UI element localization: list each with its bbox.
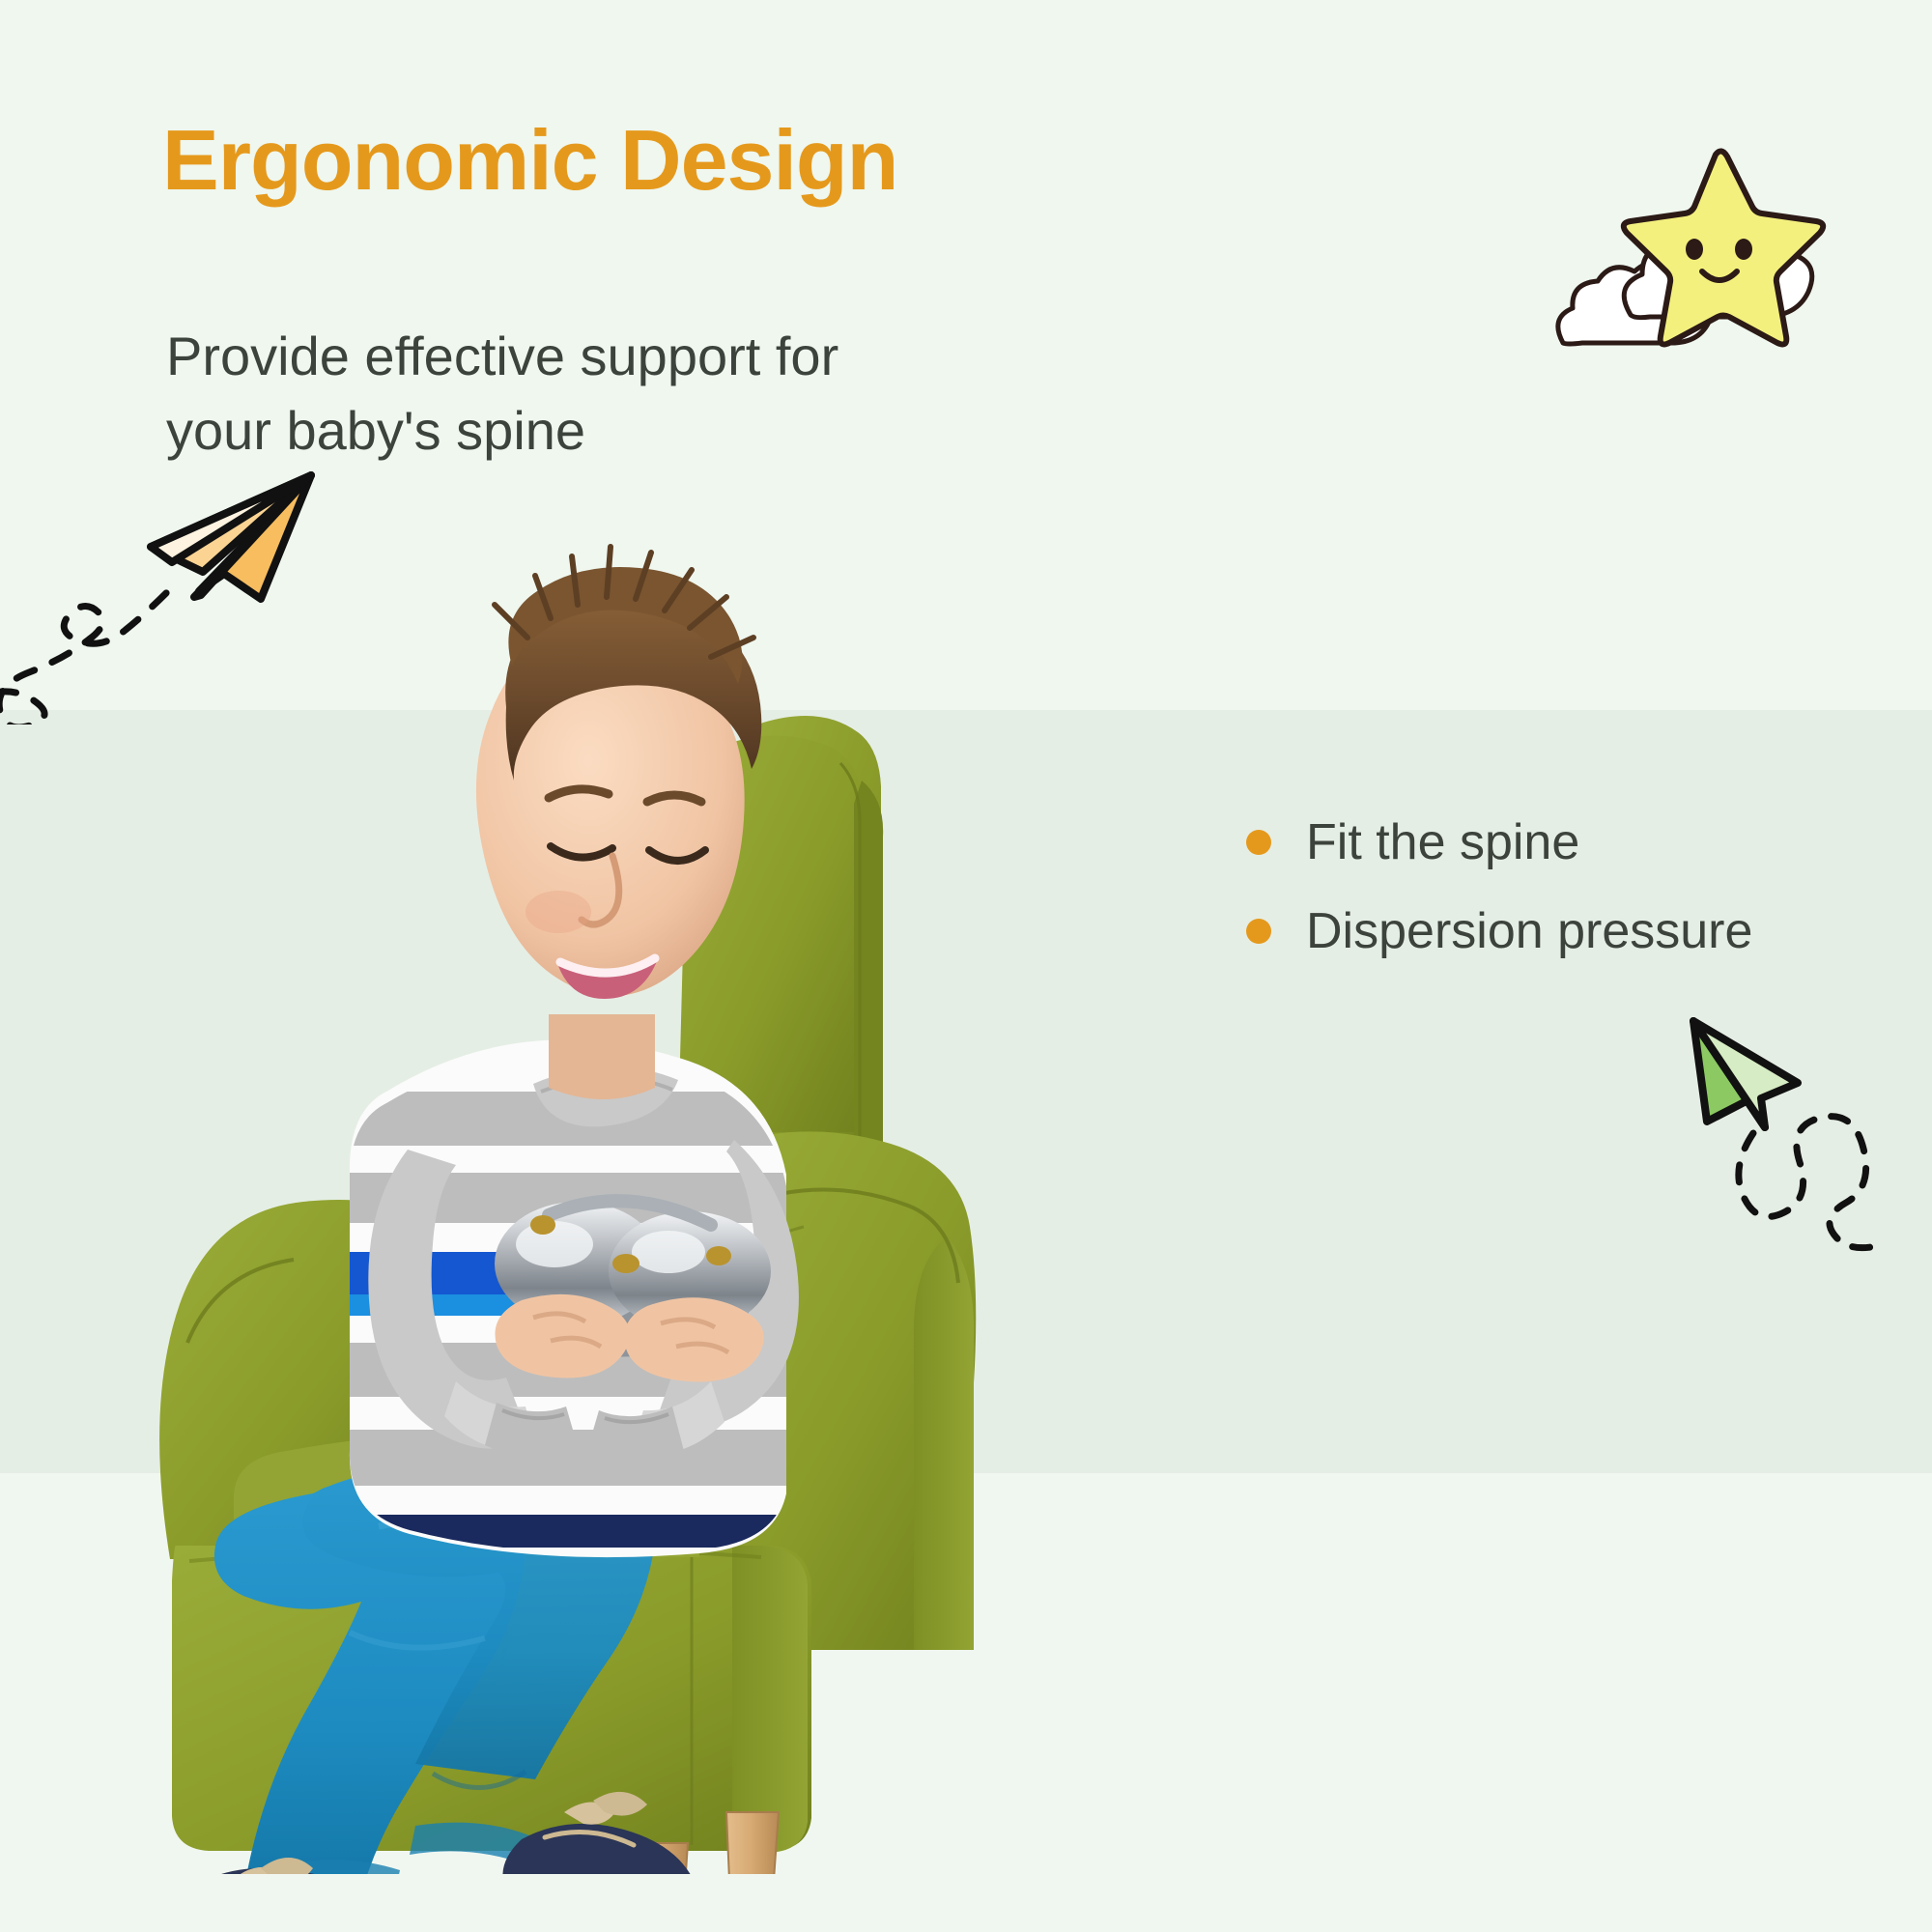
chair-leg-back	[726, 1812, 779, 1874]
list-item: Dispersion pressure	[1246, 887, 1752, 976]
star-eye-right	[1735, 239, 1752, 260]
feature-label: Dispersion pressure	[1306, 902, 1752, 960]
child-neck	[549, 1014, 655, 1099]
product-feature-poster: Ergonomic Design Provide effective suppo…	[0, 0, 1932, 1932]
star-cloud-icon	[1546, 126, 1874, 382]
feature-label: Fit the spine	[1306, 813, 1579, 871]
paper-plane-green-icon	[1657, 990, 1932, 1285]
child-hand-right	[624, 1297, 763, 1381]
feature-list: Fit the spine Dispersion pressure	[1246, 798, 1752, 976]
child-on-green-armchair	[97, 473, 1285, 1874]
list-item: Fit the spine	[1246, 798, 1752, 887]
page-title: Ergonomic Design	[162, 111, 897, 210]
page-subtitle: Provide effective support for your baby'…	[166, 319, 838, 469]
star-eye-left	[1686, 239, 1703, 260]
